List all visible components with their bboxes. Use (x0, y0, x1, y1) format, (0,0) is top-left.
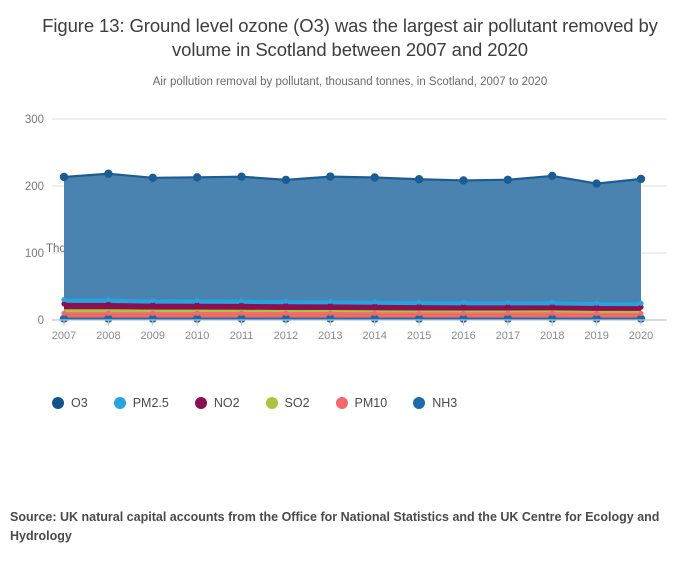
data-point-marker (638, 300, 643, 305)
data-point-marker (637, 175, 645, 183)
data-point-marker (370, 173, 378, 181)
data-point-marker (195, 298, 200, 303)
data-point-marker (60, 173, 68, 181)
legend-item-label: PM10 (355, 396, 388, 410)
legend-item-pm10[interactable]: PM10 (336, 396, 388, 410)
data-point-marker (372, 310, 377, 315)
x-axis-tick-label: 2019 (584, 330, 608, 342)
x-axis-tick-label: 2013 (318, 330, 342, 342)
legend-swatch-icon (266, 397, 278, 409)
legend-item-o3[interactable]: O3 (52, 396, 88, 410)
chart-subtitle: Air pollution removal by pollutant, thou… (28, 75, 672, 90)
data-point-marker (416, 299, 421, 304)
x-axis-tick-label: 2015 (407, 330, 431, 342)
series-line-so2 (64, 310, 641, 312)
data-point-marker (548, 172, 556, 180)
data-point-marker (594, 311, 599, 316)
legend-swatch-icon (413, 397, 425, 409)
x-axis-tick-label: 2020 (629, 330, 653, 342)
legend-item-label: O3 (71, 396, 88, 410)
data-point-marker (550, 310, 555, 315)
data-point-marker (106, 297, 111, 302)
legend-item-no2[interactable]: NO2 (195, 396, 240, 410)
data-point-marker (592, 179, 600, 187)
legend-item-label: PM2.5 (133, 396, 169, 410)
x-axis-tick-label: 2017 (496, 330, 520, 342)
legend-swatch-icon (114, 397, 126, 409)
data-point-marker (550, 299, 555, 304)
legend-item-label: SO2 (285, 396, 310, 410)
data-point-marker (505, 300, 510, 305)
data-point-marker (149, 173, 157, 181)
x-axis-tick-label: 2014 (362, 330, 386, 342)
legend-swatch-icon (336, 397, 348, 409)
data-point-marker (461, 300, 466, 305)
data-point-marker (504, 175, 512, 183)
data-point-marker (239, 298, 244, 303)
data-point-marker (61, 310, 66, 315)
data-point-marker (150, 298, 155, 303)
legend-item-label: NH3 (432, 396, 457, 410)
source-note: Source: UK natural capital accounts from… (10, 508, 684, 546)
legend-item-so2[interactable]: SO2 (266, 396, 310, 410)
data-point-marker (328, 310, 333, 315)
y-axis-tick-label: 100 (25, 248, 44, 260)
data-point-marker (283, 298, 288, 303)
data-point-marker (594, 300, 599, 305)
data-point-marker (459, 176, 467, 184)
data-point-marker (237, 172, 245, 180)
data-point-marker (195, 310, 200, 315)
y-axis-tick-label: 200 (25, 181, 44, 193)
data-point-marker (282, 175, 290, 183)
data-point-marker (372, 299, 377, 304)
data-point-marker (239, 310, 244, 315)
legend-swatch-icon (52, 397, 64, 409)
data-point-marker (505, 310, 510, 315)
data-point-marker (193, 173, 201, 181)
legend-item-nh3[interactable]: NH3 (413, 396, 457, 410)
x-axis-tick-label: 2012 (274, 330, 298, 342)
stacked-area-chart: 0100200300200720082009201020112012201320… (0, 108, 700, 378)
x-axis-tick-label: 2007 (52, 330, 76, 342)
x-axis-tick-label: 2008 (96, 330, 120, 342)
legend-swatch-icon (195, 397, 207, 409)
page-title: Figure 13: Ground level ozone (O3) was t… (28, 14, 672, 63)
data-point-marker (104, 169, 112, 177)
y-axis-tick-label: 0 (38, 315, 44, 327)
x-axis-tick-label: 2009 (141, 330, 165, 342)
data-point-marker (106, 310, 111, 315)
data-point-marker (328, 298, 333, 303)
data-point-marker (461, 311, 466, 316)
data-point-marker (61, 297, 66, 302)
data-point-marker (638, 311, 643, 316)
legend-item-pm25[interactable]: PM2.5 (114, 396, 169, 410)
y-axis-tick-label: 300 (25, 114, 44, 126)
x-axis-tick-label: 2011 (230, 330, 254, 342)
chart-header: Figure 13: Ground level ozone (O3) was t… (0, 0, 700, 90)
x-axis-tick-label: 2018 (540, 330, 564, 342)
data-point-marker (150, 310, 155, 315)
data-point-marker (415, 175, 423, 183)
data-point-marker (416, 311, 421, 316)
area-band-o3 (64, 173, 641, 319)
chart-plot-area: Thousand tonnes 010020030020072008200920… (0, 108, 700, 378)
x-axis-tick-label: 2016 (451, 330, 475, 342)
x-axis-tick-label: 2010 (185, 330, 209, 342)
data-point-marker (283, 310, 288, 315)
data-point-marker (326, 172, 334, 180)
chart-legend: O3PM2.5NO2SO2PM10NH3 (0, 396, 700, 410)
legend-item-label: NO2 (214, 396, 240, 410)
